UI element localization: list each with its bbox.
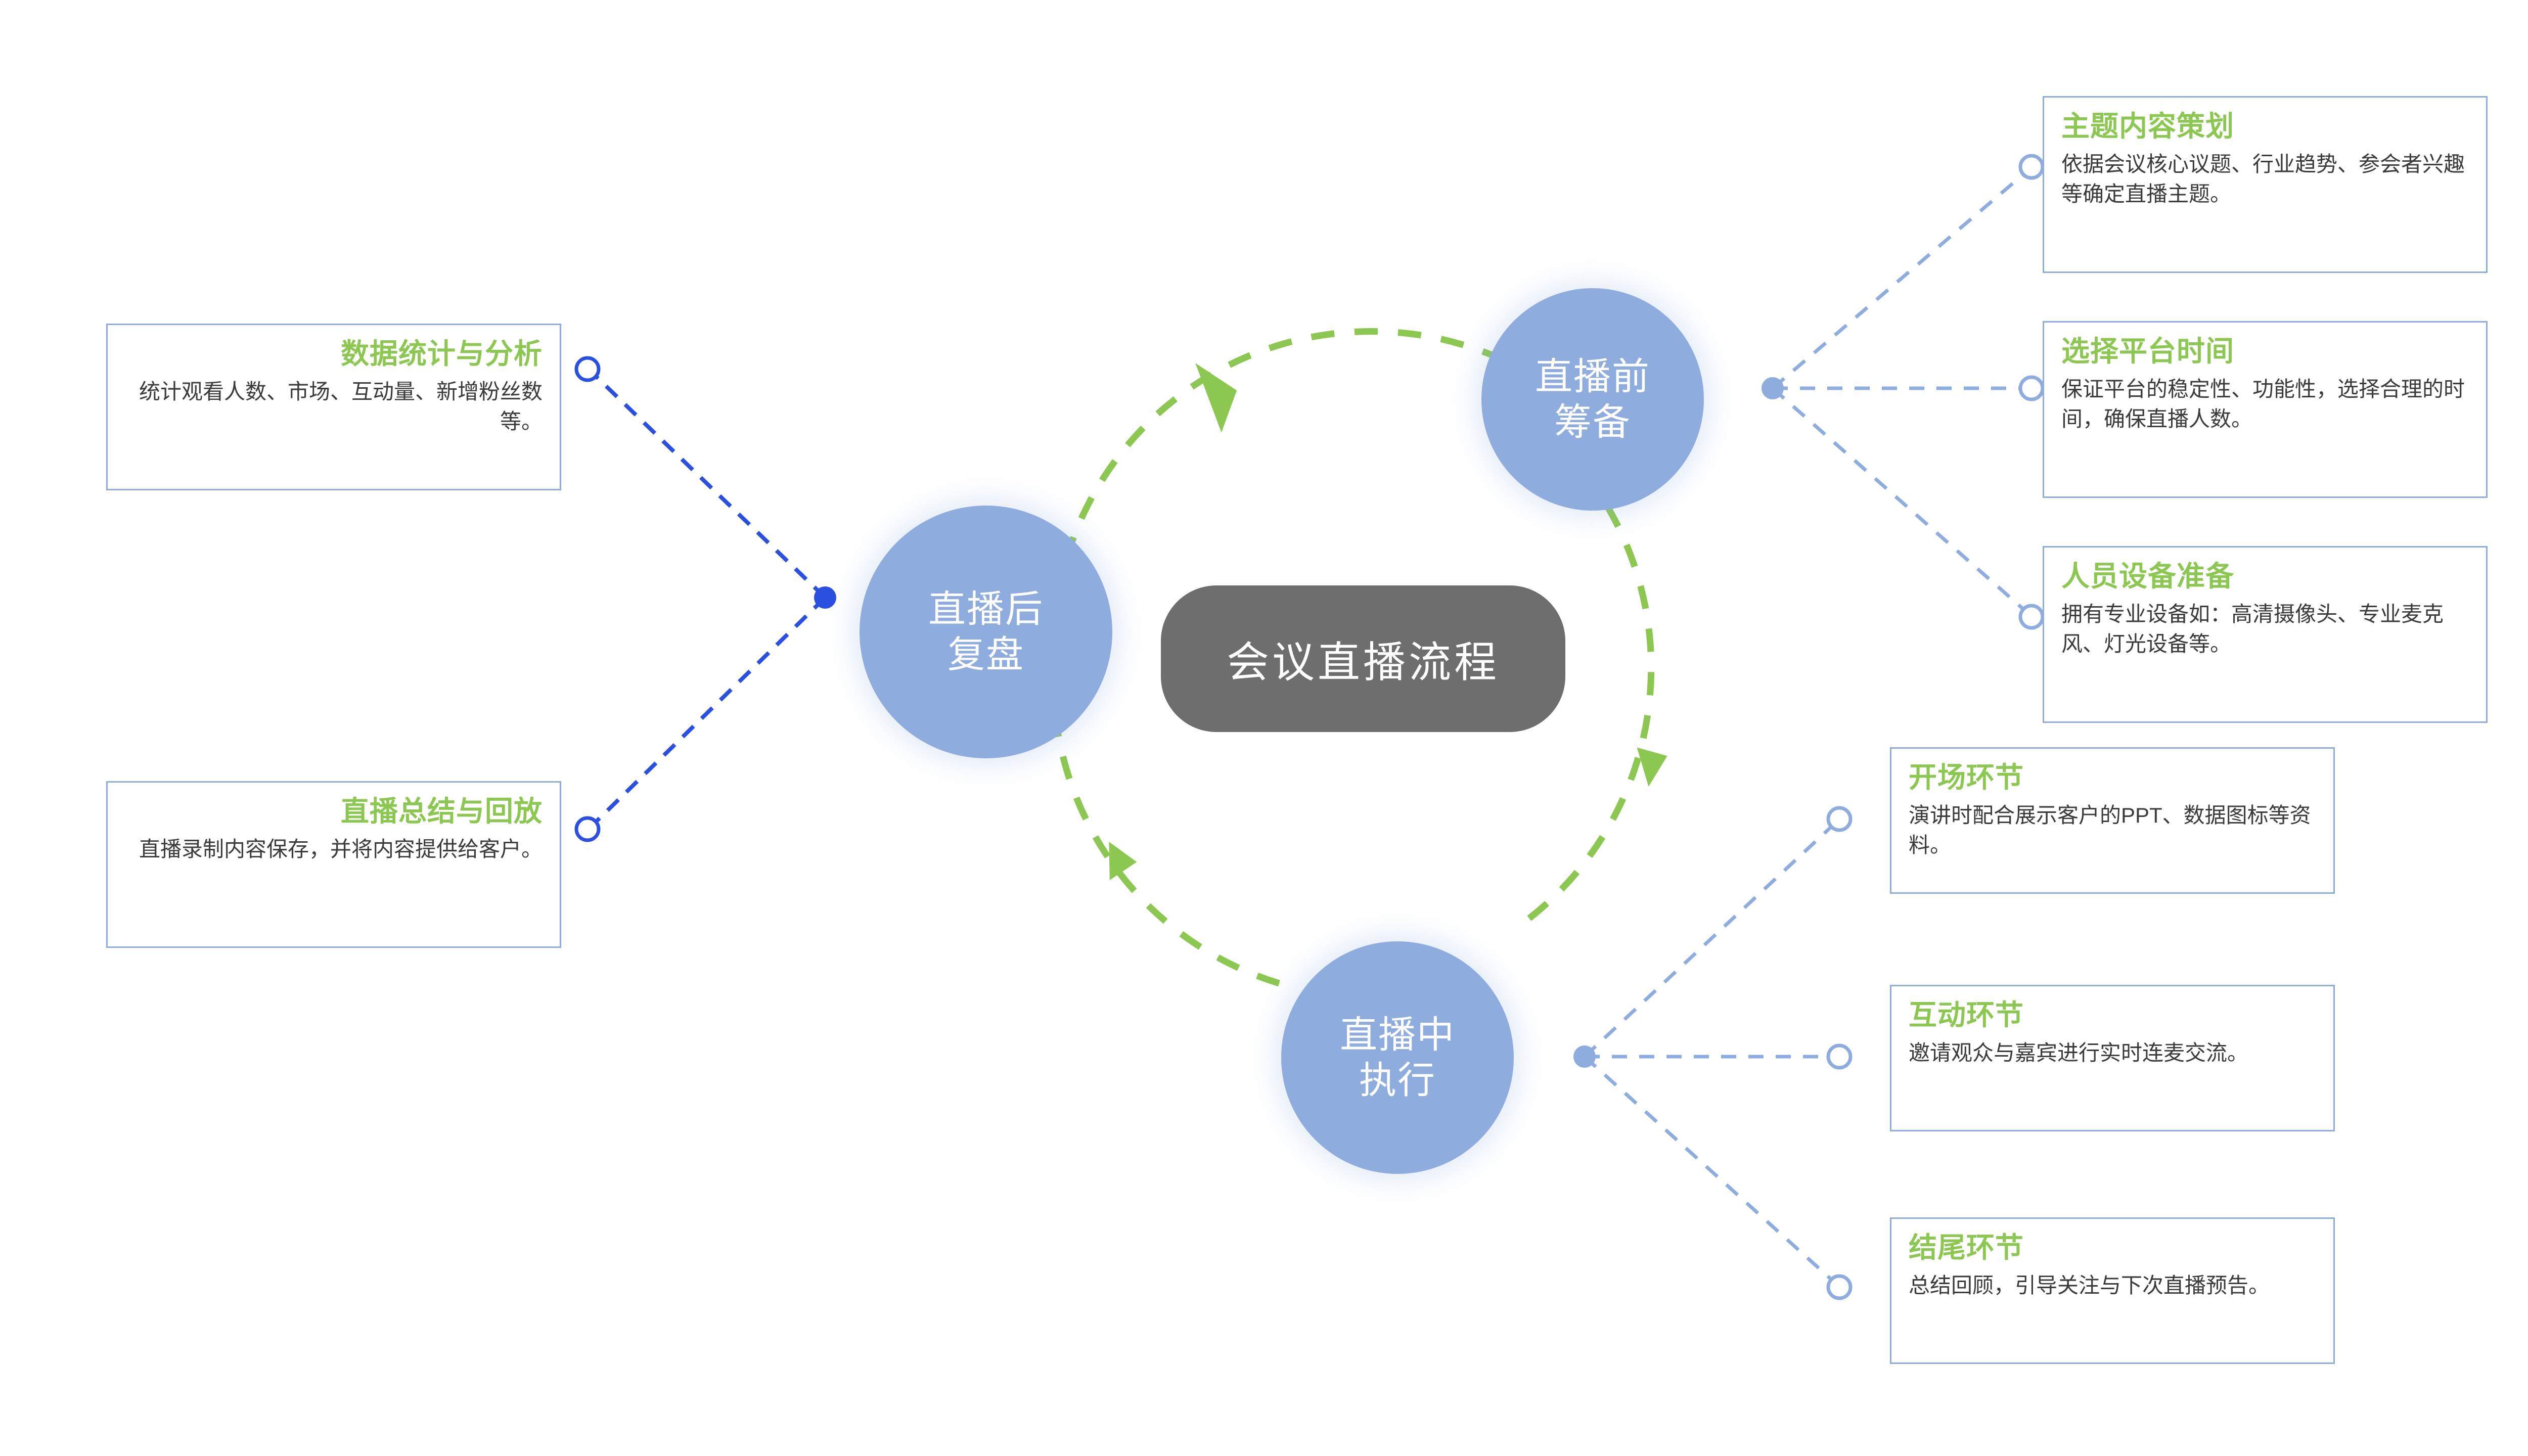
card-platform-time-title: 选择平台时间	[2061, 336, 2469, 367]
left-link-2	[593, 598, 825, 825]
left-endpoint-ring-1	[576, 358, 599, 380]
pre-hub-dot	[1762, 377, 1784, 399]
left-endpoint-ring-2	[576, 818, 599, 840]
live-endpoint-ring-2	[1828, 1045, 1850, 1068]
node-pre-live[interactable]: 直播前 筹备	[1481, 288, 1704, 511]
card-summary-replay-body: 直播录制内容保存，并将内容提供给客户。	[125, 834, 543, 864]
card-data-analysis[interactable]: 数据统计与分析 统计观看人数、市场、互动量、新增粉丝数等。	[106, 324, 561, 490]
card-platform-time[interactable]: 选择平台时间 保证平台的稳定性、功能性，选择合理的时间，确保直播人数。	[2043, 321, 2488, 498]
node-during-live[interactable]: 直播中 执行	[1281, 941, 1514, 1174]
card-data-analysis-body: 统计观看人数、市场、互动量、新增粉丝数等。	[125, 377, 543, 437]
card-summary-replay[interactable]: 直播总结与回放 直播录制内容保存，并将内容提供给客户。	[106, 781, 561, 948]
card-data-analysis-title: 数据统计与分析	[125, 338, 543, 370]
pre-endpoint-ring-1	[2020, 156, 2043, 178]
card-interaction-segment[interactable]: 互动环节 邀请观众与嘉宾进行实时连麦交流。	[1890, 985, 2335, 1131]
center-title-capsule: 会议直播流程	[1161, 585, 1565, 732]
node-post-live[interactable]: 直播后 复盘	[860, 506, 1112, 758]
live-endpoint-ring-3	[1828, 1276, 1850, 1298]
diagram-canvas: 会议直播流程 直播前 筹备 直播中 执行 直播后 复盘 数据统计与分析 统计观看…	[0, 0, 2528, 1456]
left-hub-dot	[814, 586, 836, 609]
cycle-arc-post-to-pre	[1057, 331, 1522, 602]
card-staff-equipment-body: 拥有专业设备如：高清摄像头、专业麦克风、灯光设备等。	[2061, 599, 2469, 659]
node-during-live-line2: 执行	[1340, 1058, 1455, 1103]
node-pre-live-line1: 直播前	[1535, 354, 1650, 399]
card-closing-segment-body: 总结回顾，引导关注与下次直播预告。	[1909, 1270, 2316, 1301]
pre-link-3	[1773, 388, 2027, 613]
card-staff-equipment[interactable]: 人员设备准备 拥有专业设备如：高清摄像头、专业麦克风、灯光设备等。	[2043, 546, 2488, 723]
left-branch-links	[593, 373, 825, 825]
pre-endpoint-ring-2	[2020, 377, 2043, 399]
pre-link-1	[1773, 171, 2027, 388]
pre-endpoint-ring-3	[2020, 606, 2043, 628]
center-title-text: 会议直播流程	[1227, 628, 1500, 690]
card-theme-planning[interactable]: 主题内容策划 依据会议核心议题、行业趋势、参会者兴趣等确定直播主题。	[2043, 96, 2488, 273]
live-branch-links	[1585, 823, 1835, 1283]
node-post-live-line1: 直播后	[928, 586, 1044, 632]
pre-branch-links	[1773, 171, 2027, 613]
card-staff-equipment-title: 人员设备准备	[2061, 561, 2469, 592]
live-endpoint-ring-1	[1828, 808, 1850, 830]
left-link-1	[593, 373, 825, 598]
card-interaction-segment-title: 互动环节	[1909, 999, 2316, 1031]
card-opening-segment[interactable]: 开场环节 演讲时配合展示客户的PPT、数据图标等资料。	[1890, 747, 2335, 894]
card-interaction-segment-body: 邀请观众与嘉宾进行实时连麦交流。	[1909, 1038, 2316, 1068]
live-hub-dot	[1573, 1045, 1596, 1068]
card-opening-segment-body: 演讲时配合展示客户的PPT、数据图标等资料。	[1909, 800, 2316, 860]
live-link-3	[1585, 1057, 1835, 1283]
arrowhead-top	[1195, 356, 1245, 435]
node-post-live-line2: 复盘	[928, 632, 1044, 677]
node-pre-live-line2: 筹备	[1535, 399, 1650, 445]
card-summary-replay-title: 直播总结与回放	[125, 796, 543, 827]
card-theme-planning-body: 依据会议核心议题、行业趋势、参会者兴趣等确定直播主题。	[2061, 149, 2469, 209]
node-during-live-line1: 直播中	[1340, 1012, 1455, 1058]
card-closing-segment[interactable]: 结尾环节 总结回顾，引导关注与下次直播预告。	[1890, 1217, 2335, 1364]
card-closing-segment-title: 结尾环节	[1909, 1232, 2316, 1263]
card-opening-segment-title: 开场环节	[1909, 762, 2316, 793]
live-link-1	[1585, 823, 1835, 1057]
arrowhead-right	[1637, 744, 1672, 788]
card-theme-planning-title: 主题内容策划	[2061, 111, 2469, 142]
card-platform-time-body: 保证平台的稳定性、功能性，选择合理的时间，确保直播人数。	[2061, 374, 2469, 434]
